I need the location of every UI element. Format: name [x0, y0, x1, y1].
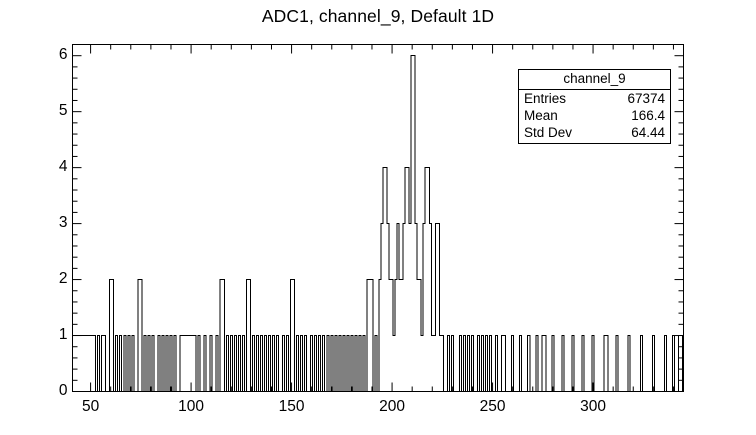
root-canvas: ADC1, channel_9, Default 1D 501001502002… — [0, 0, 756, 435]
x-tick-label: 200 — [367, 398, 417, 416]
stats-row: Mean 166.4 — [519, 107, 670, 124]
y-tick-label: 5 — [54, 102, 68, 120]
y-tick-label: 6 — [54, 46, 68, 64]
x-tick-label: 100 — [166, 398, 216, 416]
x-tick-label: 300 — [568, 398, 618, 416]
stats-label-mean: Mean — [524, 107, 558, 124]
stats-label-stddev: Std Dev — [524, 124, 572, 141]
y-tick-label: 4 — [54, 158, 68, 176]
stats-row: Std Dev 64.44 — [519, 124, 670, 143]
x-tick-label: 150 — [267, 398, 317, 416]
y-tick-label: 3 — [54, 214, 68, 232]
x-tick-label: 250 — [468, 398, 518, 416]
y-tick-label: 1 — [54, 326, 68, 344]
stats-value-stddev: 64.44 — [631, 124, 665, 141]
y-tick-label: 0 — [54, 382, 68, 400]
stats-box: channel_9 Entries 67374 Mean 166.4 Std D… — [518, 69, 671, 144]
stats-value-entries: 67374 — [627, 90, 665, 107]
stats-row: Entries 67374 — [519, 90, 670, 107]
stats-label-entries: Entries — [524, 90, 566, 107]
stats-value-mean: 166.4 — [631, 107, 665, 124]
histogram-plot — [0, 0, 756, 435]
y-tick-label: 2 — [54, 270, 68, 288]
x-tick-label: 50 — [66, 398, 116, 416]
stats-title: channel_9 — [519, 70, 670, 90]
